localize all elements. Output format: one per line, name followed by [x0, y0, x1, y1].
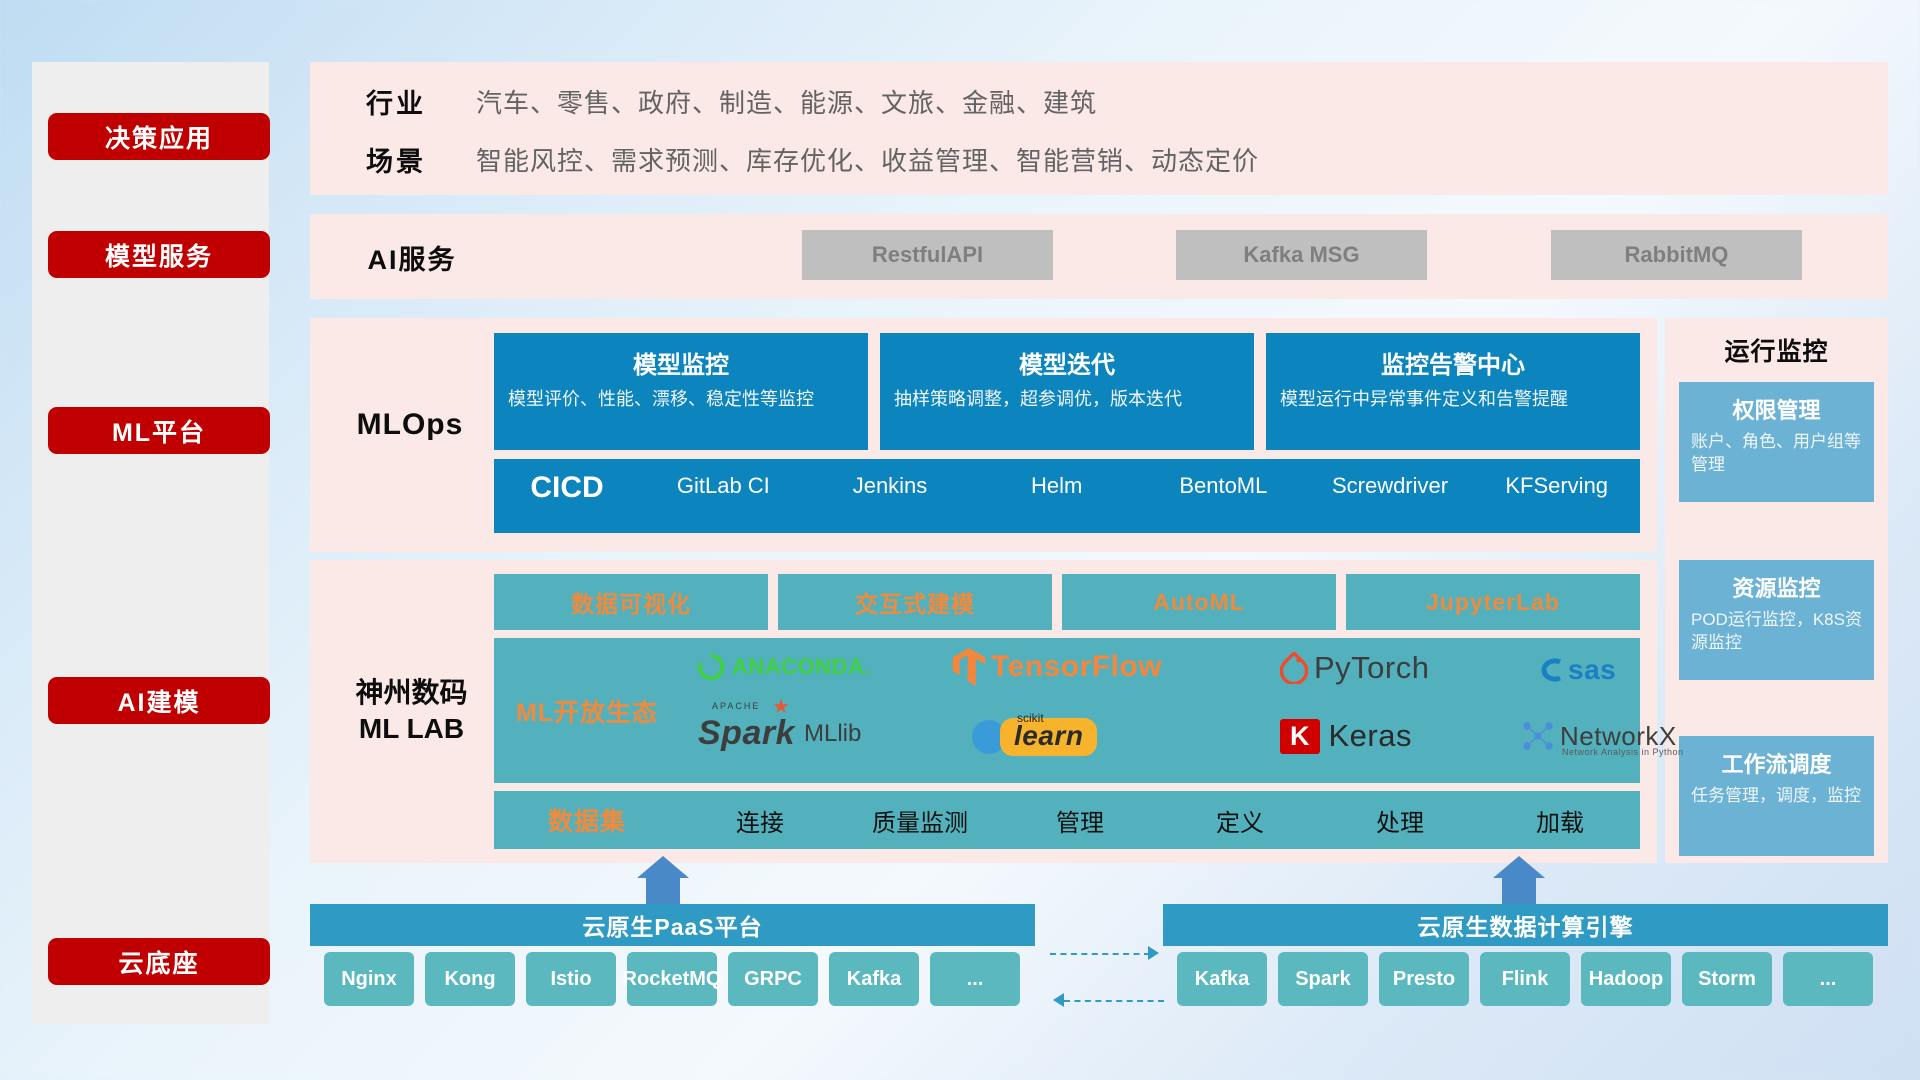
sas-logo: sas [1538, 654, 1616, 686]
chip-kong[interactable]: Kong [425, 952, 515, 1006]
rail-item-ai-modeling[interactable]: AI建模 [48, 677, 270, 724]
cicd-item-helm[interactable]: Helm [973, 473, 1140, 498]
networkx-logo: NetworkX Network Analysis in Python [1520, 718, 1677, 754]
cicd-items: GitLab CI Jenkins Helm BentoML Screwdriv… [640, 459, 1640, 498]
industry-row: 行业 汽车、零售、政府、制造、能源、文旅、金融、建筑 [336, 82, 1097, 121]
card-title: 模型迭代 [880, 345, 1254, 380]
modeling-tool-data-visualization[interactable]: 数据可视化 [494, 574, 768, 630]
dashed-arrow-right [1148, 946, 1159, 960]
monitor-card-permission[interactable]: 权限管理 账户、角色、用户组等管理 [1679, 382, 1874, 502]
monitor-card-workflow[interactable]: 工作流调度 任务管理，调度，监控 [1679, 736, 1874, 856]
chip-kafka[interactable]: Kafka [829, 952, 919, 1006]
rail-item-ml-platform[interactable]: ML平台 [48, 407, 270, 454]
keras-text: Keras [1329, 718, 1412, 754]
card-desc: 模型评价、性能、漂移、稳定性等监控 [508, 388, 856, 412]
dataset-row: 数据集 连接 质量监测 管理 定义 处理 加载 [494, 791, 1640, 849]
ai-service-label: AI服务 [342, 238, 482, 277]
service-restfulapi[interactable]: RestfulAPI [802, 230, 1053, 280]
service-kafka-msg[interactable]: Kafka MSG [1176, 230, 1427, 280]
mllib-text: MLlib [804, 720, 861, 748]
spark-mllib-logo: APACHE ★ Spark MLlib [698, 714, 861, 753]
dataset-item-load[interactable]: 加载 [1480, 803, 1640, 838]
anaconda-logo: ANACONDA. [696, 652, 871, 682]
chip-presto[interactable]: Presto [1379, 952, 1469, 1006]
dashed-connector-top [1050, 953, 1150, 955]
chip-flink[interactable]: Flink [1480, 952, 1570, 1006]
pytorch-text: PyTorch [1314, 650, 1429, 686]
card-title: 资源监控 [1679, 571, 1874, 603]
dashed-arrow-left [1053, 993, 1064, 1007]
runtime-monitor-panel: 运行监控 权限管理 账户、角色、用户组等管理 资源监控 POD运行监控，K8S资… [1665, 318, 1888, 863]
chip-rocketmq[interactable]: RocketMQ [627, 952, 717, 1006]
dataset-item-define[interactable]: 定义 [1160, 803, 1320, 838]
ml-ecosystem-logos: ANACONDA. TensorFlow PyTorch [680, 638, 1640, 783]
cicd-label: CICD [494, 471, 640, 505]
ml-ecosystem-row: ML开放生态 ANACONDA. TensorFlow [494, 638, 1640, 783]
dataset-item-quality[interactable]: 质量监测 [840, 803, 1000, 838]
rail-item-decision-app[interactable]: 决策应用 [48, 113, 270, 160]
modeling-tool-jupyterlab[interactable]: JupyterLab [1346, 574, 1640, 630]
mlops-card-alert-center[interactable]: 监控告警中心 模型运行中异常事件定义和告警提醒 [1266, 333, 1640, 450]
scikit-learn-logo: scikit learn [970, 718, 1097, 756]
networkx-subtitle: Network Analysis in Python [1562, 747, 1684, 757]
mlops-panel: MLOps 模型监控 模型评价、性能、漂移、稳定性等监控 模型迭代 抽样策略调整… [310, 318, 1657, 552]
cicd-item-gitlab-ci[interactable]: GitLab CI [640, 473, 807, 498]
anaconda-text: ANACONDA. [732, 654, 871, 680]
runtime-monitor-title: 运行监控 [1665, 332, 1888, 368]
spark-text: Spark [698, 714, 795, 752]
cicd-item-jenkins[interactable]: Jenkins [807, 473, 974, 498]
paas-platform-bar: 云原生PaaS平台 [310, 904, 1035, 946]
layer-rail [32, 62, 269, 1024]
ml-lab-label-line1: 神州数码 [324, 675, 499, 711]
monitor-card-resource[interactable]: 资源监控 POD运行监控，K8S资源监控 [1679, 560, 1874, 680]
industry-value: 汽车、零售、政府、制造、能源、文旅、金融、建筑 [476, 83, 1097, 120]
dataset-item-connect[interactable]: 连接 [680, 803, 840, 838]
scikit-text: scikit [1017, 711, 1044, 725]
card-desc: 模型运行中异常事件定义和告警提醒 [1280, 388, 1628, 412]
spark-apache-text: APACHE [712, 701, 760, 711]
cicd-row: CICD GitLab CI Jenkins Helm BentoML Scre… [494, 459, 1640, 533]
card-title: 权限管理 [1679, 393, 1874, 425]
chip-grpc[interactable]: GRPC [728, 952, 818, 1006]
chip-more[interactable]: ... [1783, 952, 1873, 1006]
dataset-label: 数据集 [494, 802, 680, 838]
card-desc: 任务管理，调度，监控 [1691, 785, 1864, 808]
card-desc: 抽样策略调整，超参调优，版本迭代 [894, 388, 1242, 412]
architecture-diagram: 决策应用 模型服务 ML平台 AI建模 云底座 行业 汽车、零售、政府、制造、能… [0, 0, 1920, 1080]
card-desc: POD运行监控，K8S资源监控 [1691, 609, 1864, 654]
spark-star-icon: ★ [772, 694, 790, 719]
pytorch-icon [1280, 652, 1308, 684]
tensorflow-icon [952, 648, 986, 686]
keras-mark: K [1280, 719, 1320, 754]
rail-label: 云底座 [118, 944, 199, 980]
compute-chip-row: Kafka Spark Presto Flink Hadoop Storm ..… [1163, 946, 1888, 1012]
chip-more[interactable]: ... [930, 952, 1020, 1006]
scenario-row: 场景 智能风控、需求预测、库存优化、收益管理、智能营销、动态定价 [336, 140, 1259, 179]
dataset-item-manage[interactable]: 管理 [1000, 803, 1160, 838]
paas-chip-row: Nginx Kong Istio RocketMQ GRPC Kafka ... [310, 946, 1035, 1012]
tensorflow-text: TensorFlow [991, 650, 1162, 684]
card-title: 监控告警中心 [1266, 345, 1640, 380]
data-compute-engine-bar: 云原生数据计算引擎 [1163, 904, 1888, 946]
industry-label: 行业 [336, 82, 456, 121]
rail-label: AI建模 [117, 683, 200, 719]
networkx-icon [1520, 718, 1556, 754]
chip-istio[interactable]: Istio [526, 952, 616, 1006]
dataset-items: 连接 质量监测 管理 定义 处理 加载 [680, 803, 1640, 838]
chip-hadoop[interactable]: Hadoop [1581, 952, 1671, 1006]
anaconda-icon [696, 652, 726, 682]
ai-service-panel: AI服务 RestfulAPI Kafka MSG RabbitMQ Web服务 [310, 214, 1888, 299]
ml-lab-label-line2: ML LAB [324, 711, 499, 747]
modeling-tool-interactive-modeling[interactable]: 交互式建模 [778, 574, 1052, 630]
pytorch-logo: PyTorch [1280, 650, 1429, 686]
scenario-value: 智能风控、需求预测、库存优化、收益管理、智能营销、动态定价 [476, 141, 1259, 178]
dashed-connector-bottom [1064, 1000, 1164, 1002]
decision-app-panel: 行业 汽车、零售、政府、制造、能源、文旅、金融、建筑 场景 智能风控、需求预测、… [310, 62, 1888, 195]
ai-modeling-panel: 神州数码 ML LAB 数据可视化 交互式建模 AutoML JupyterLa… [310, 560, 1657, 863]
cicd-item-screwdriver[interactable]: Screwdriver [1307, 473, 1474, 498]
chip-kafka[interactable]: Kafka [1177, 952, 1267, 1006]
card-title: 模型监控 [494, 345, 868, 380]
tensorflow-logo: TensorFlow [952, 648, 1162, 686]
rail-label: 模型服务 [105, 237, 213, 273]
chip-nginx[interactable]: Nginx [324, 952, 414, 1006]
rail-item-model-service[interactable]: 模型服务 [48, 231, 270, 278]
card-title: 工作流调度 [1679, 747, 1874, 779]
chip-spark[interactable]: Spark [1278, 952, 1368, 1006]
ml-ecosystem-label: ML开放生态 [494, 693, 680, 729]
scenario-label: 场景 [336, 140, 456, 179]
rail-label: 决策应用 [105, 119, 213, 155]
rail-label: ML平台 [112, 413, 206, 449]
mlops-label: MLOps [330, 408, 490, 442]
rail-item-cloud-base[interactable]: 云底座 [48, 938, 270, 985]
chip-storm[interactable]: Storm [1682, 952, 1772, 1006]
modeling-tool-automl[interactable]: AutoML [1062, 574, 1336, 630]
service-rabbitmq[interactable]: RabbitMQ [1551, 230, 1802, 280]
cicd-item-kfserving[interactable]: KFServing [1473, 473, 1640, 498]
keras-logo: K Keras [1280, 718, 1412, 754]
mlops-card-model-iteration[interactable]: 模型迭代 抽样策略调整，超参调优，版本迭代 [880, 333, 1254, 450]
mlops-card-model-monitoring[interactable]: 模型监控 模型评价、性能、漂移、稳定性等监控 [494, 333, 868, 450]
cicd-item-bentoml[interactable]: BentoML [1140, 473, 1307, 498]
sas-icon [1538, 657, 1566, 683]
card-desc: 账户、角色、用户组等管理 [1691, 431, 1864, 476]
dataset-item-process[interactable]: 处理 [1320, 803, 1480, 838]
sas-text: sas [1568, 654, 1616, 686]
ml-lab-label: 神州数码 ML LAB [324, 675, 499, 747]
